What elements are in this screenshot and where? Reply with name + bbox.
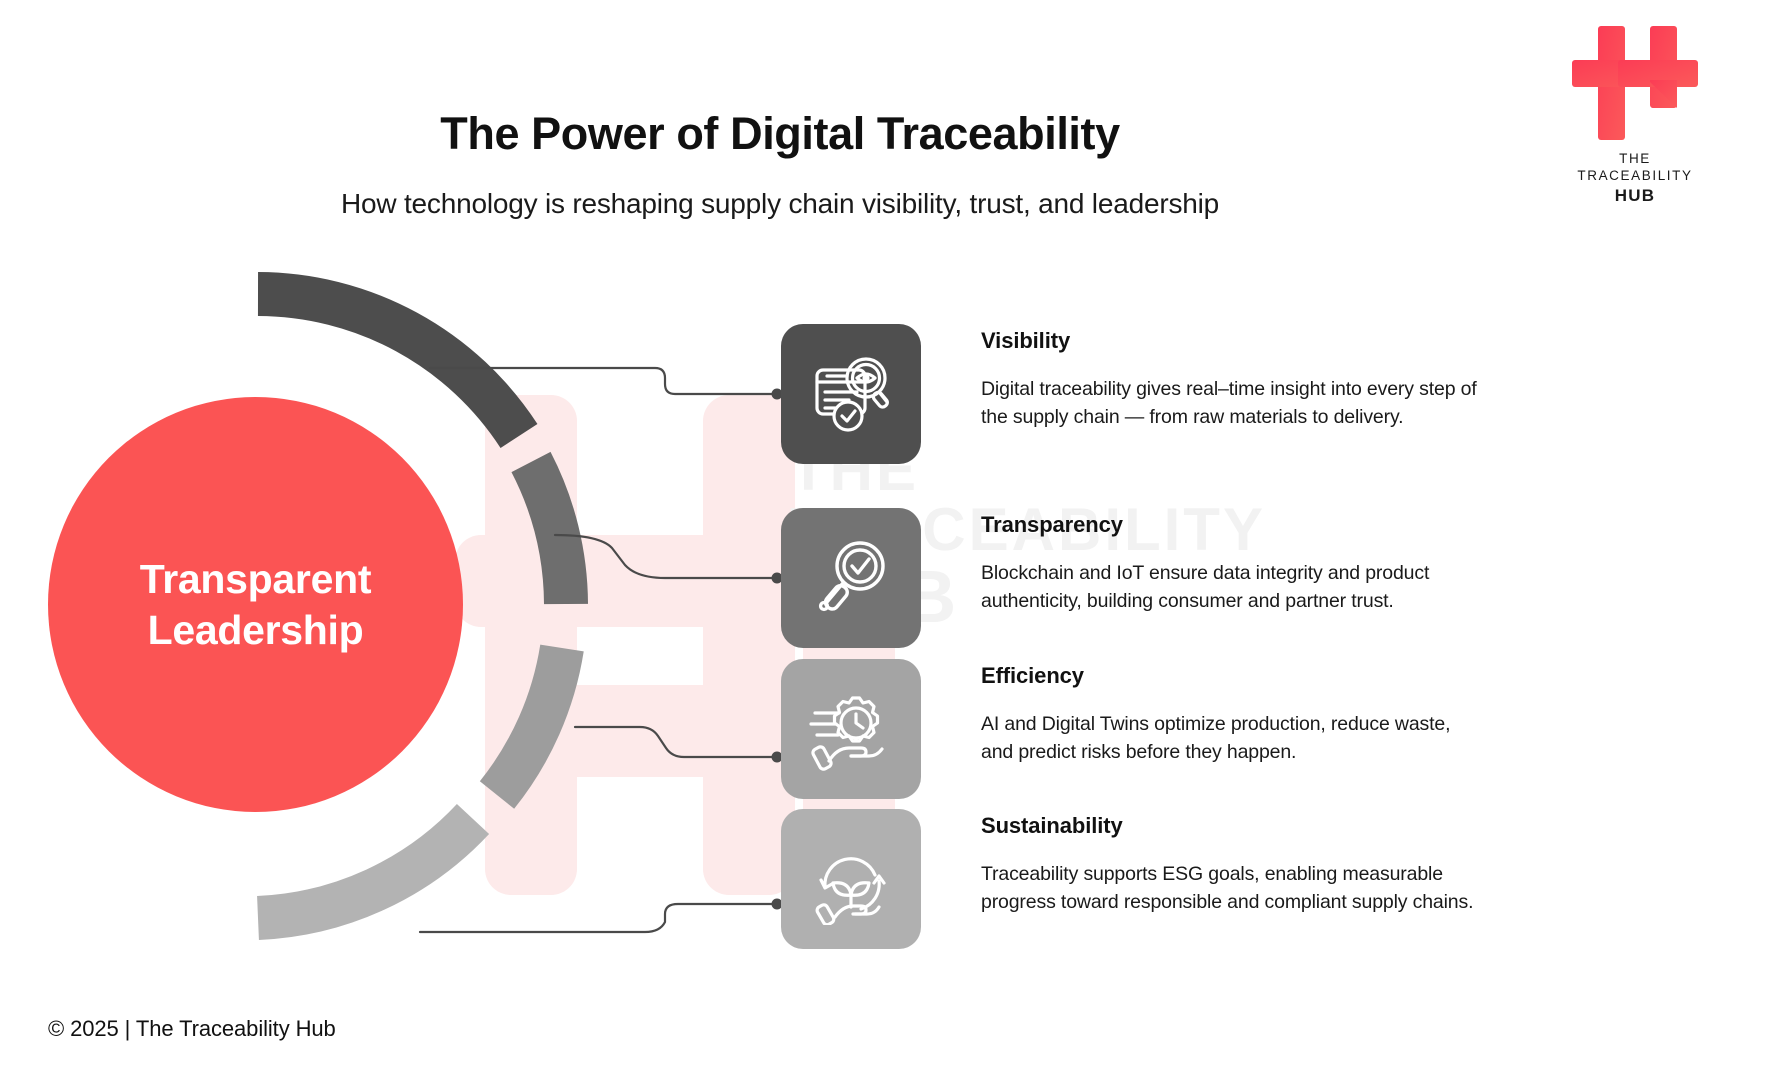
pillar-title: Visibility bbox=[981, 328, 1481, 354]
pillar-text-transparency: Transparency Blockchain and IoT ensure d… bbox=[981, 508, 1481, 615]
core-label-line-2: Leadership bbox=[148, 607, 364, 653]
pillar-title: Sustainability bbox=[981, 813, 1481, 839]
pillar-description: Blockchain and IoT ensure data integrity… bbox=[981, 560, 1481, 615]
transparent-leadership-hub: Transparent Leadership bbox=[48, 397, 463, 812]
pillar-description: AI and Digital Twins optimize production… bbox=[981, 711, 1481, 766]
brand-line-3: HUB bbox=[1535, 185, 1735, 207]
brand-line-2: TRACEABILITY bbox=[1577, 168, 1692, 183]
pillar-text-visibility: Visibility Digital traceability gives re… bbox=[981, 324, 1481, 431]
hand-gear-clock-speed-icon bbox=[805, 683, 897, 775]
connector-visibility bbox=[430, 368, 775, 394]
sustainability-arc bbox=[258, 819, 473, 918]
pillar-text-sustainability: Sustainability Traceability supports ESG… bbox=[981, 809, 1481, 916]
brand-line-1: THE bbox=[1619, 151, 1651, 166]
tile-efficiency[interactable] bbox=[781, 659, 921, 799]
pillar-row-efficiency: Efficiency AI and Digital Twins optimize… bbox=[781, 659, 1481, 799]
connector-transparency bbox=[555, 535, 775, 578]
header: The Power of Digital Traceability How te… bbox=[0, 0, 1560, 220]
traceability-hub-logo-icon bbox=[1572, 22, 1698, 144]
pillar-row-sustainability: Sustainability Traceability supports ESG… bbox=[781, 809, 1481, 949]
core-label-line-1: Transparent bbox=[140, 556, 371, 602]
magnifier-check-icon bbox=[805, 532, 897, 624]
hand-sprout-recycle-icon bbox=[805, 833, 897, 925]
pillar-description: Digital traceability gives real–time ins… bbox=[981, 376, 1481, 431]
tile-sustainability[interactable] bbox=[781, 809, 921, 949]
core-label: Transparent Leadership bbox=[140, 554, 371, 654]
pillar-title: Efficiency bbox=[981, 663, 1481, 689]
brand-name: THE TRACEABILITY HUB bbox=[1535, 150, 1735, 206]
footer-copyright: © 2025 | The Traceability Hub bbox=[48, 1016, 336, 1042]
efficiency-arc bbox=[497, 648, 562, 795]
page-subtitle: How technology is reshaping supply chain… bbox=[0, 188, 1560, 220]
brand-logo: THE TRACEABILITY HUB bbox=[1535, 22, 1735, 206]
transparency-arc bbox=[531, 462, 566, 604]
tile-visibility[interactable] bbox=[781, 324, 921, 464]
infographic-canvas: THE TRACEABILITY HUB The Power of Digita… bbox=[0, 0, 1767, 1080]
pillar-title: Transparency bbox=[981, 512, 1481, 538]
pillar-row-visibility: Visibility Digital traceability gives re… bbox=[781, 324, 1481, 464]
pillar-description: Traceability supports ESG goals, enablin… bbox=[981, 861, 1481, 916]
pillar-text-efficiency: Efficiency AI and Digital Twins optimize… bbox=[981, 659, 1481, 766]
connector-sustainability bbox=[420, 904, 775, 932]
connector-efficiency bbox=[575, 727, 775, 757]
page-title: The Power of Digital Traceability bbox=[0, 108, 1560, 160]
pillar-row-transparency: Transparency Blockchain and IoT ensure d… bbox=[781, 508, 1481, 648]
tile-transparency[interactable] bbox=[781, 508, 921, 648]
document-magnifier-eye-check-icon bbox=[805, 348, 897, 440]
